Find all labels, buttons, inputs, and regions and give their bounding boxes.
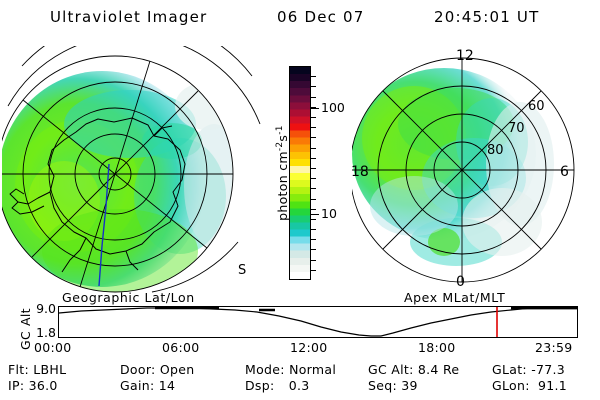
status-ip-value: 36.0 [29,378,58,393]
mlat-label-80: 80 [487,143,504,158]
status-gain-label: Gain: [120,378,154,393]
status-mode: Mode: Normal [245,362,336,377]
status-footer: Flt: LBHL IP: 36.0 Door: Open Gain: 14 M… [0,362,600,400]
status-door: Door: Open [120,362,194,377]
mlat-label-70: 70 [508,121,525,136]
geo-corner-label: S [238,263,246,278]
orbit-altitude-trace [59,308,577,336]
mlt-aurora-layer [352,68,554,266]
status-gain: Gain: 14 [120,378,175,393]
alt-plot-svg [59,307,577,337]
orbit-altitude-plot[interactable]: Alt GC 9.0 1.8 00:00 06:00 12:00 18:00 2… [0,300,600,358]
status-gcalt: GC Alt: 8.4 Re [368,362,459,377]
alt-xtick-0600: 06:00 [162,340,200,355]
alt-xtick-2359: 23:59 [535,340,573,355]
status-dsp: Dsp: 0.3 [245,378,310,393]
mlat-label-60: 60 [528,99,545,114]
alt-xtick-1800: 18:00 [418,340,456,355]
status-glat-label: GLat: [492,362,527,377]
observation-date: 06 Dec 07 [277,8,365,26]
alt-ytick-min: 1.8 [36,328,56,338]
geographic-polar-plot[interactable]: S [2,46,264,294]
geographic-plot-svg: S [2,46,264,294]
status-gain-value: 14 [159,378,176,393]
mlt-label-18: 18 [352,164,369,180]
colorbar-gradient [290,67,310,279]
apex-mlat-mlt-plot[interactable]: 12 18 6 0 60 70 80 [352,46,598,294]
alt-plot-box [58,306,578,338]
colorbar-label-10: 10 [321,209,337,219]
mlt-label-6: 6 [560,164,569,180]
mlt-plot-svg: 12 18 6 0 60 70 80 [352,46,598,294]
status-dsp-label: Dsp: [245,378,274,393]
colorbar-ticks [311,66,319,280]
colorbar-label-100: 100 [321,103,345,113]
colorbar-box [289,66,311,280]
alt-xtick-0000: 00:00 [34,340,72,355]
status-mode-label: Mode: [245,362,285,377]
status-mode-value: Normal [289,362,336,377]
alt-ytick-max: 9.0 [36,304,56,314]
status-seq: Seq: 39 [368,378,418,393]
mlt-label-0: 0 [456,274,465,290]
status-flt-label: Flt: [8,362,29,377]
status-door-label: Door: [120,362,156,377]
colorbar-unit-exp1: -2 [275,142,285,152]
alt-xtick-1200: 12:00 [290,340,328,355]
status-seq-value: 39 [401,378,418,393]
status-door-value: Open [160,362,195,377]
status-gcalt-value: 8.4 Re [418,362,459,377]
colorbar-unit-base: photon cm [275,151,290,221]
status-glon-label: GLon: [492,378,530,393]
alt-x-tick-labels: 00:00 06:00 12:00 18:00 23:59 [0,340,600,358]
status-seq-label: Seq: [368,378,397,393]
aurora-emission-layer [2,71,244,293]
status-ip: IP: 36.0 [8,378,58,393]
mlt-label-12: 12 [456,48,474,64]
status-glon-value: 91.1 [538,378,567,393]
orbit-thick-segments [155,308,275,310]
header-bar: Ultraviolet Imager 06 Dec 07 20:45:01 UT [0,8,600,34]
status-dsp-value: 0.3 [289,378,310,393]
status-glat: GLat: -77.3 [492,362,565,377]
status-ip-label: IP: [8,378,24,393]
colorbar-axis-label: photon cm-2s-1 [275,66,290,280]
status-gcalt-label: GC Alt: [368,362,414,377]
observation-time: 20:45:01 UT [434,8,539,26]
status-glon: GLon: 91.1 [492,378,567,393]
intensity-colorbar[interactable]: 100 10 photon cm-2s-1 [265,58,353,290]
colorbar-unit-mid: s [275,135,290,142]
status-flt: Flt: LBHL [8,362,66,377]
colorbar-unit-exp2: -1 [275,125,285,135]
status-flt-value: LBHL [33,362,66,377]
status-glat-value: -77.3 [531,362,565,377]
instrument-title: Ultraviolet Imager [50,8,207,26]
